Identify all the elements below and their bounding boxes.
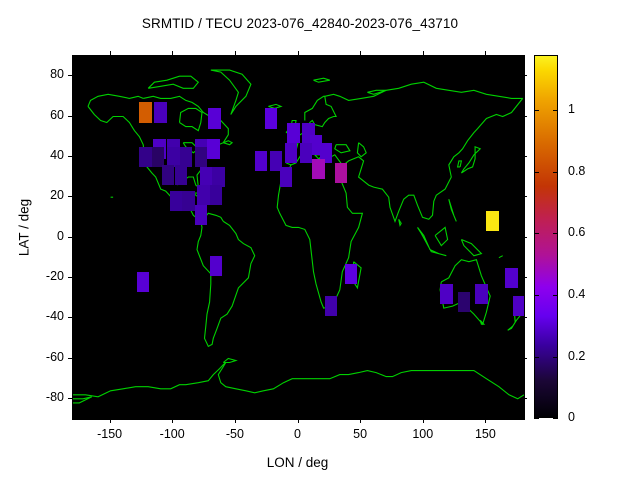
- data-cell: [154, 102, 167, 122]
- data-cell: [486, 211, 499, 231]
- data-cell: [475, 284, 488, 304]
- colorbar-tick: [534, 357, 539, 358]
- y-axis-tick: [68, 317, 73, 318]
- data-cell: [162, 165, 175, 185]
- colorbar-tick: [553, 357, 558, 358]
- data-cell: [182, 191, 195, 211]
- data-cell: [210, 185, 223, 205]
- y-axis-title: LAT / deg: [17, 148, 32, 308]
- colorbar-tick: [553, 418, 558, 419]
- data-cell: [345, 264, 358, 284]
- y-axis-tick: [68, 398, 73, 399]
- y-axis-tick: [522, 317, 527, 318]
- data-cell: [265, 108, 278, 128]
- colorbar-tick: [534, 110, 539, 111]
- page-title: SRMTID / TECU 2023-076_42840-2023-076_43…: [0, 16, 600, 31]
- data-cell: [335, 163, 348, 183]
- y-axis-tick: [68, 116, 73, 117]
- y-axis-tick: [68, 75, 73, 76]
- x-axis-tick: [298, 418, 299, 423]
- x-axis-tick: [235, 418, 236, 423]
- x-axis-tick: [172, 51, 173, 56]
- y-axis-tick-label: 60: [18, 108, 64, 122]
- data-cell: [210, 256, 223, 276]
- x-axis-tick: [298, 51, 299, 56]
- x-axis-tick: [110, 51, 111, 56]
- x-axis-tick-label: -150: [80, 427, 140, 441]
- y-axis-tick-label: 80: [18, 67, 64, 81]
- data-cell: [312, 159, 325, 179]
- data-cell: [207, 139, 220, 159]
- colorbar-tick: [553, 110, 558, 111]
- y-axis-tick: [522, 156, 527, 157]
- data-cell: [285, 143, 298, 163]
- data-cell: [505, 268, 518, 288]
- data-cell: [458, 292, 471, 312]
- data-cell: [280, 167, 293, 187]
- y-axis-tick: [68, 277, 73, 278]
- x-axis-tick-label: 100: [393, 427, 453, 441]
- y-axis-tick: [522, 237, 527, 238]
- data-cell: [195, 147, 208, 167]
- data-cell: [287, 123, 300, 143]
- data-cell: [300, 143, 313, 163]
- data-cell: [212, 167, 225, 187]
- data-cell: [197, 185, 210, 205]
- x-axis-title: LON / deg: [72, 455, 523, 470]
- colorbar-tick: [534, 295, 539, 296]
- colorbar-tick: [534, 172, 539, 173]
- y-axis-tick: [68, 237, 73, 238]
- colorbar-tick-label: 0.2: [568, 349, 585, 363]
- x-axis-tick: [235, 51, 236, 56]
- x-axis-tick: [360, 51, 361, 56]
- x-axis-tick-label: 50: [330, 427, 390, 441]
- data-cell: [137, 272, 150, 292]
- y-axis-tick: [522, 277, 527, 278]
- data-cell: [200, 167, 213, 187]
- map-canvas: [73, 56, 524, 419]
- colorbar-tick: [553, 233, 558, 234]
- y-axis-tick: [522, 75, 527, 76]
- colorbar-tick-label: 0.4: [568, 287, 585, 301]
- x-axis-tick: [172, 418, 173, 423]
- data-cell: [255, 151, 268, 171]
- data-cell-layer: [73, 56, 524, 419]
- y-axis-tick-label: -80: [18, 390, 64, 404]
- x-axis-tick: [423, 418, 424, 423]
- colorbar-tick: [534, 233, 539, 234]
- y-axis-tick: [68, 156, 73, 157]
- x-axis-tick-label: 150: [455, 427, 515, 441]
- y-axis-tick-label: -60: [18, 350, 64, 364]
- data-cell: [440, 284, 453, 304]
- y-axis-tick-label: -40: [18, 309, 64, 323]
- y-axis-tick: [522, 358, 527, 359]
- y-axis-tick: [68, 196, 73, 197]
- colorbar-tick-label: 0: [568, 410, 575, 424]
- data-cell: [195, 205, 208, 225]
- colorbar-tick-label: 1: [568, 102, 575, 116]
- y-axis-tick: [522, 398, 527, 399]
- colorbar-tick: [553, 172, 558, 173]
- colorbar-tick-label: 0.6: [568, 225, 585, 239]
- data-cell: [139, 147, 152, 167]
- y-axis-tick: [522, 196, 527, 197]
- x-axis-tick-label: 0: [268, 427, 328, 441]
- x-axis-tick: [360, 418, 361, 423]
- x-axis-tick-label: -100: [142, 427, 202, 441]
- data-cell: [175, 165, 188, 185]
- colorbar: 10.80.60.40.20: [534, 55, 558, 418]
- x-axis-tick: [423, 51, 424, 56]
- x-axis-tick: [485, 418, 486, 423]
- data-cell: [513, 296, 524, 316]
- data-cell: [139, 102, 152, 122]
- x-axis-tick: [485, 51, 486, 56]
- colorbar-tick: [534, 418, 539, 419]
- y-axis-tick: [522, 116, 527, 117]
- colorbar-tick: [553, 295, 558, 296]
- data-cell: [325, 296, 338, 316]
- data-cell: [170, 191, 183, 211]
- plot-figure: SRMTID / TECU 2023-076_42840-2023-076_43…: [0, 0, 640, 480]
- x-axis-tick-label: -50: [205, 427, 265, 441]
- y-axis-tick: [68, 358, 73, 359]
- map-plot-area: [72, 55, 525, 420]
- data-cell: [208, 108, 221, 128]
- x-axis-tick: [110, 418, 111, 423]
- colorbar-tick-label: 0.8: [568, 164, 585, 178]
